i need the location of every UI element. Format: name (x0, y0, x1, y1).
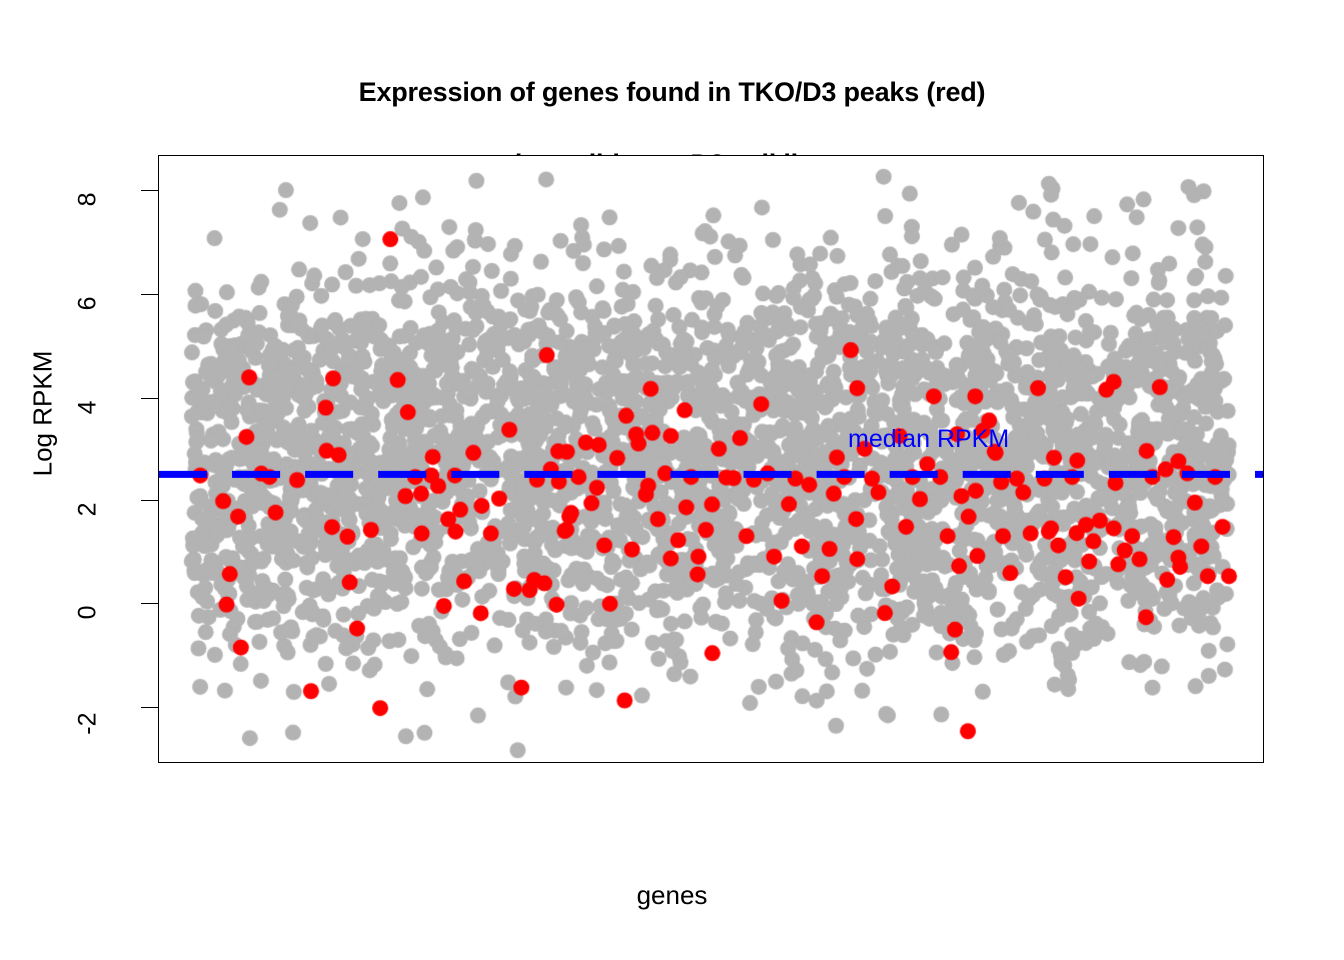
y-tick-label-0: 0 (74, 606, 103, 620)
median-rpkm-label: median RPKM (848, 425, 1009, 454)
y-tick-label-8: 8 (74, 193, 103, 207)
chart-figure: Expression of genes found in TKO/D3 peak… (0, 0, 1344, 960)
y-tick-label-4: 4 (74, 401, 103, 415)
plot-area (158, 155, 1264, 763)
y-tick-mark-8 (141, 190, 158, 191)
scatter-points-canvas (159, 156, 1263, 762)
y-tick-mark-4 (141, 398, 158, 399)
chart-title-line1: Expression of genes found in TKO/D3 peak… (359, 77, 986, 107)
y-tick-label-minus2: -2 (74, 713, 103, 735)
y-tick-mark-0 (141, 603, 158, 604)
y-tick-label-2: 2 (74, 503, 103, 517)
y-axis-title: Log RPKM (28, 334, 59, 494)
y-tick-label-6: 6 (74, 297, 103, 311)
x-axis-title: genes (0, 880, 1344, 911)
y-tick-mark-minus2 (141, 707, 158, 708)
y-tick-mark-6 (141, 294, 158, 295)
y-tick-mark-2 (141, 500, 158, 501)
